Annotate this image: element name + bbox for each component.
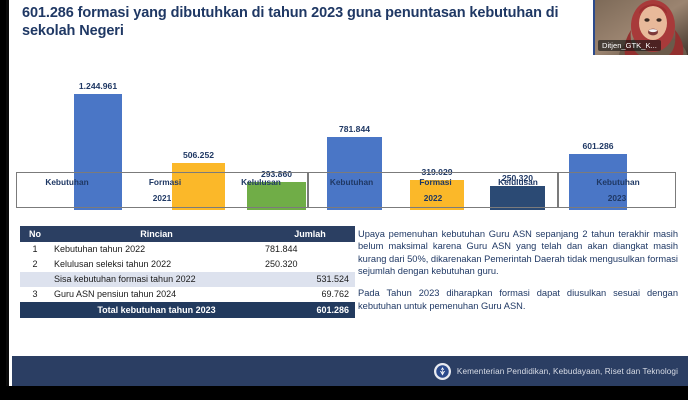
table-row: 1Kebutuhan tahun 2022781.844 bbox=[20, 242, 355, 257]
bar-kebutuhan-2023-value-label: 601.286 bbox=[557, 141, 639, 151]
axis-group-2023: Kebutuhan2023 bbox=[558, 172, 676, 208]
bar-kebutuhan-2021-value-label: 1.244.961 bbox=[62, 81, 134, 91]
table-total-row: Total kebutuhan tahun 2023601.286 bbox=[20, 302, 355, 318]
axis-group-2021-year-label: 2021 bbox=[17, 193, 307, 203]
table-cell-no bbox=[20, 272, 50, 287]
axis-group-2022-year-label: 2022 bbox=[309, 193, 557, 203]
axis-cell-kebutuhan-2022-label: Kebutuhan bbox=[309, 177, 394, 187]
table-cell-no: 2 bbox=[20, 257, 50, 272]
table-container: NoRincianJumlah1Kebutuhan tahun 2022781.… bbox=[20, 226, 345, 318]
slide-footer: Kementerian Pendidikan, Kebudayaan, Rise… bbox=[12, 356, 688, 386]
rincian-kebutuhan-table: NoRincianJumlah1Kebutuhan tahun 2022781.… bbox=[20, 226, 355, 318]
table-cell-amount: 250.320 bbox=[259, 257, 355, 272]
table-header-jumlah: Jumlah bbox=[259, 226, 355, 242]
table-cell-no: 1 bbox=[20, 242, 50, 257]
axis-cell-kelulusan-2022-label: Kelulusan bbox=[477, 177, 559, 187]
table-cell-amount: 531.524 bbox=[259, 272, 355, 287]
axis-cell-formasi-2021-label: Formasi bbox=[117, 177, 213, 187]
table-header-row: NoRincianJumlah bbox=[20, 226, 355, 242]
table-total-spacer bbox=[20, 302, 50, 318]
bar-formasi-2021-value-label: 506.252 bbox=[160, 150, 237, 160]
axis-cell-formasi-2022: Formasi bbox=[394, 173, 477, 209]
table-row: Sisa kebutuhan formasi tahun 2022531.524 bbox=[20, 272, 355, 287]
chart-category-axis: KebutuhanFormasiKelulusan2021KebutuhanFo… bbox=[16, 172, 676, 208]
axis-cell-formasi-2022-label: Formasi bbox=[394, 177, 477, 187]
table-row: 3Guru ASN pensiun tahun 202469.762 bbox=[20, 287, 355, 302]
axis-cell-kelulusan-2022: Kelulusan bbox=[477, 173, 559, 209]
table-header-rincian: Rincian bbox=[50, 226, 259, 242]
kemdikbud-logo-icon bbox=[434, 363, 451, 380]
axis-cell-kebutuhan-2023-label: Kebutuhan bbox=[559, 177, 677, 187]
footer-content: Kementerian Pendidikan, Kebudayaan, Rise… bbox=[434, 356, 678, 386]
axis-cell-kebutuhan-2021-label: Kebutuhan bbox=[17, 177, 117, 187]
table-cell-amount: 69.762 bbox=[259, 287, 355, 302]
table-cell-description: Kebutuhan tahun 2022 bbox=[50, 242, 259, 257]
axis-cell-kebutuhan-2021: Kebutuhan bbox=[17, 173, 117, 209]
page-title: 601.286 formasi yang dibutuhkan di tahun… bbox=[22, 5, 582, 41]
table-total-amount: 601.286 bbox=[259, 302, 355, 318]
axis-cell-kelulusan-2021-label: Kelulusan bbox=[213, 177, 309, 187]
table-total-label: Total kebutuhan tahun 2023 bbox=[50, 302, 259, 318]
axis-group-2022: KebutuhanFormasiKelulusan2022 bbox=[308, 172, 558, 208]
axis-cell-kelulusan-2021: Kelulusan bbox=[213, 173, 309, 209]
paragraph-1: Upaya pemenuhan kebutuhan Guru ASN sepan… bbox=[358, 228, 678, 277]
table-cell-description: Kelulusan seleksi tahun 2022 bbox=[50, 257, 259, 272]
presentation-slide: 601.286 formasi yang dibutuhkan di tahun… bbox=[6, 0, 688, 386]
table-header-no: No bbox=[20, 226, 50, 242]
paragraph-2: Pada Tahun 2023 diharapkan formasi dapat… bbox=[358, 287, 678, 312]
axis-cell-kebutuhan-2022: Kebutuhan bbox=[309, 173, 394, 209]
webcam-participant-label: Ditjen_GTK_K... bbox=[598, 40, 661, 51]
table-cell-no: 3 bbox=[20, 287, 50, 302]
zoom-meeting-screenshare: 601.286 formasi yang dibutuhkan di tahun… bbox=[0, 0, 688, 400]
slide-left-border bbox=[6, 0, 9, 386]
table-cell-description: Sisa kebutuhan formasi tahun 2022 bbox=[50, 272, 259, 287]
axis-cell-kebutuhan-2023: Kebutuhan bbox=[559, 173, 677, 209]
webcam-tile[interactable]: Ditjen_GTK_K... bbox=[593, 0, 688, 55]
table-cell-description: Guru ASN pensiun tahun 2024 bbox=[50, 287, 259, 302]
table-cell-amount: 781.844 bbox=[259, 242, 355, 257]
bar-kebutuhan-2022-value-label: 781.844 bbox=[315, 124, 394, 134]
table-row: 2Kelulusan seleksi tahun 2022250.320 bbox=[20, 257, 355, 272]
footer-ministry-text: Kementerian Pendidikan, Kebudayaan, Rise… bbox=[457, 367, 678, 376]
explanatory-text: Upaya pemenuhan kebutuhan Guru ASN sepan… bbox=[358, 228, 678, 322]
axis-group-2021: KebutuhanFormasiKelulusan2021 bbox=[16, 172, 308, 208]
axis-group-2023-year-label: 2023 bbox=[559, 193, 675, 203]
axis-cell-formasi-2021: Formasi bbox=[117, 173, 213, 209]
